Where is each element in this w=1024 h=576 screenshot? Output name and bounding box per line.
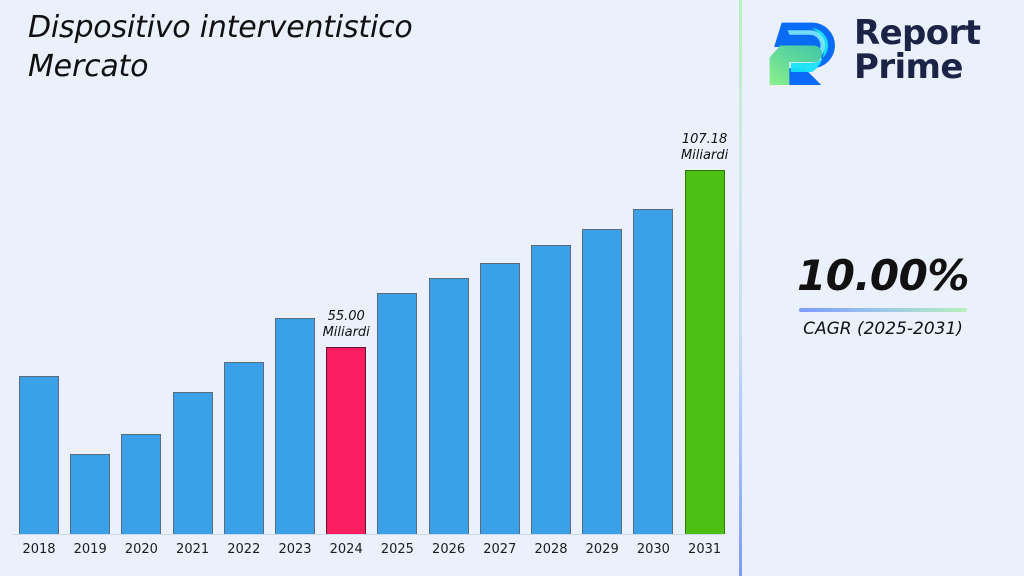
x-tick-2024: 2024: [330, 542, 363, 557]
x-tick-2027: 2027: [483, 542, 516, 557]
bar-group: 107.18 Miliardi: [683, 0, 727, 534]
x-tick-2023: 2023: [278, 542, 311, 557]
bar-group: [17, 0, 61, 534]
plot-area: 55.00 Miliardi107.18 Miliardi20182019202…: [0, 0, 740, 576]
cagr-caption: CAGR (2025-2031): [742, 318, 1024, 340]
bar-2018[interactable]: [19, 376, 59, 534]
cagr-divider: [799, 308, 967, 312]
bar-group: [631, 0, 675, 534]
x-tick-2020: 2020: [125, 542, 158, 557]
cagr-value: 10.00%: [742, 252, 1024, 300]
bar-2022[interactable]: [224, 362, 264, 534]
bar-group: [119, 0, 163, 534]
x-tick-2018: 2018: [22, 542, 55, 557]
bar-2030[interactable]: [633, 209, 673, 534]
x-tick-2022: 2022: [227, 542, 260, 557]
bar-group: [68, 0, 112, 534]
chart-slide: Dispositivo interventistico Mercato 55.0…: [0, 0, 1024, 576]
bar-group: [580, 0, 624, 534]
bar-group: [478, 0, 522, 534]
x-tick-2019: 2019: [74, 542, 107, 557]
bar-group: [529, 0, 573, 534]
cagr-block: 10.00% CAGR (2025-2031): [742, 252, 1024, 340]
bar-2023[interactable]: [275, 318, 315, 534]
bar-2028[interactable]: [531, 245, 571, 534]
x-tick-2028: 2028: [534, 542, 567, 557]
bar-2025[interactable]: [377, 293, 417, 534]
bar-group: [273, 0, 317, 534]
brand-logo: Report Prime: [764, 12, 980, 88]
x-tick-2031: 2031: [688, 542, 721, 557]
chart-panel: Dispositivo interventistico Mercato 55.0…: [0, 0, 740, 576]
bar-2019[interactable]: [70, 454, 110, 534]
x-tick-2030: 2030: [637, 542, 670, 557]
bar-2026[interactable]: [429, 278, 469, 534]
x-tick-2021: 2021: [176, 542, 209, 557]
bar-2021[interactable]: [173, 392, 213, 534]
bar-2029[interactable]: [582, 229, 622, 534]
bar-group: [222, 0, 266, 534]
bar-2031[interactable]: [685, 170, 725, 534]
bar-2027[interactable]: [480, 263, 520, 534]
x-axis-line: [12, 534, 722, 535]
bar-2020[interactable]: [121, 434, 161, 534]
bar-group: 55.00 Miliardi: [324, 0, 368, 534]
brand-wordmark: Report Prime: [854, 16, 980, 84]
bar-2024[interactable]: [326, 347, 366, 534]
bar-group: [375, 0, 419, 534]
bar-group: [427, 0, 471, 534]
brand-panel: Report Prime 10.00% CAGR (2025-2031): [742, 0, 1024, 576]
report-prime-r-mark-icon: [764, 12, 842, 88]
x-tick-2029: 2029: [586, 542, 619, 557]
bar-group: [171, 0, 215, 534]
x-tick-2026: 2026: [432, 542, 465, 557]
x-tick-2025: 2025: [381, 542, 414, 557]
